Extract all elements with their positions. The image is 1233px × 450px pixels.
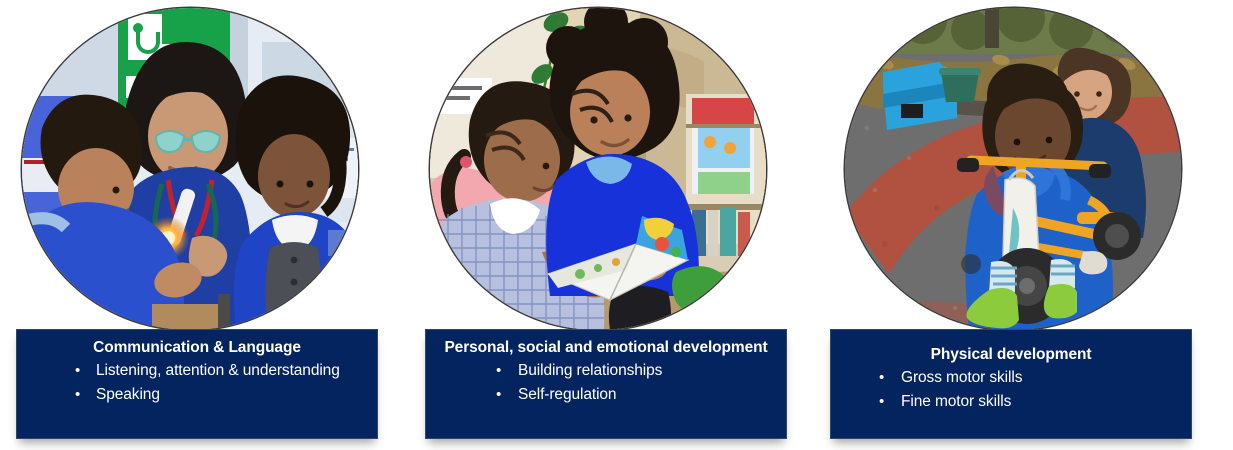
card-physical-development: Physical development Gross motor skills … — [823, 0, 1233, 450]
card-title: Personal, social and emotional developme… — [438, 338, 774, 358]
card-title: Physical development — [843, 345, 1179, 365]
card-communication-and-language: Communication & Language Listening, atte… — [0, 0, 400, 450]
photo-artwork-3 — [845, 8, 1181, 330]
panel-communication-and-language: Communication & Language Listening, atte… — [16, 329, 378, 439]
slide-canvas: Communication & Language Listening, atte… — [0, 0, 1233, 450]
list-item: Building relationships — [432, 359, 780, 383]
photo-artwork-2 — [430, 8, 766, 330]
photo-two-children-sharing-a-book — [430, 8, 766, 330]
list-item: Speaking — [23, 383, 371, 407]
list-item: Gross motor skills — [837, 366, 1185, 390]
panel-personal-social-and-emotional-development: Personal, social and emotional developme… — [425, 329, 787, 439]
list-item: Self-regulation — [432, 383, 780, 407]
card-title: Communication & Language — [29, 338, 365, 358]
card-bullet-list: Gross motor skills Fine motor skills — [837, 366, 1185, 415]
list-item: Listening, attention & understanding — [23, 359, 371, 383]
card-personal-social-and-emotional-development: Personal, social and emotional developme… — [410, 0, 810, 450]
card-bullet-list: Building relationships Self-regulation — [432, 359, 780, 408]
card-bullet-list: Listening, attention & understanding Spe… — [23, 359, 371, 408]
photo-teacher-and-two-children-with-torch — [22, 8, 358, 330]
photo-child-riding-trike-outdoors — [845, 8, 1181, 330]
panel-physical-development: Physical development Gross motor skills … — [830, 329, 1192, 439]
photo-artwork-1 — [22, 8, 358, 330]
list-item: Fine motor skills — [837, 390, 1185, 414]
